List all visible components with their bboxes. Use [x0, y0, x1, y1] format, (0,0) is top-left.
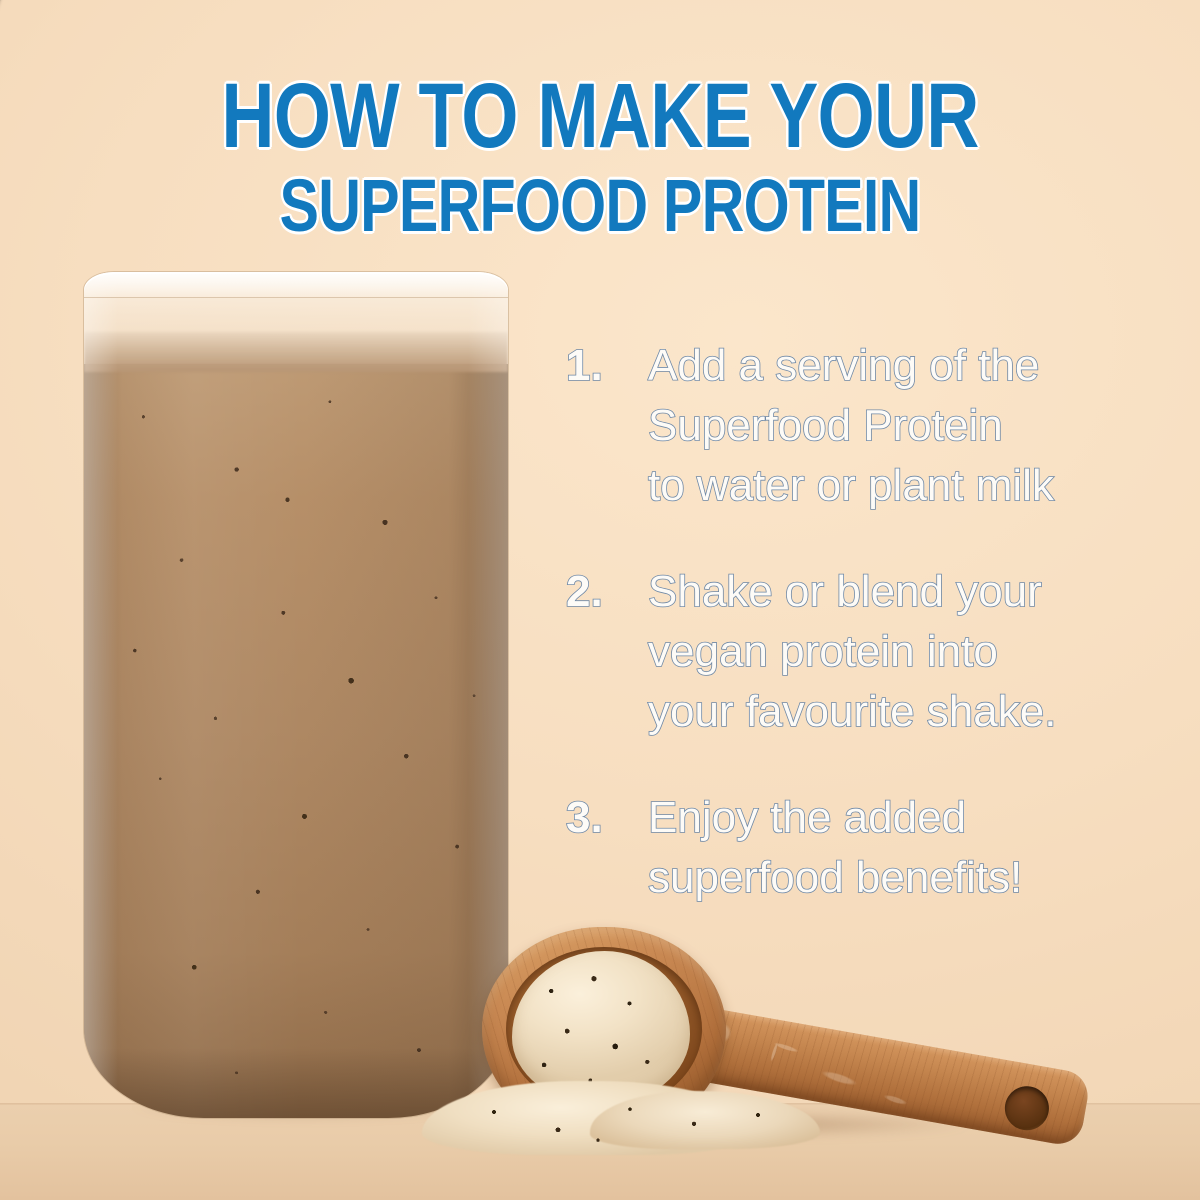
list-item: 3. Enjoy the added superfood benefits! — [566, 788, 1146, 908]
glass-highlight-left — [84, 272, 118, 1118]
step-number: 2. — [566, 562, 648, 742]
list-item: 1. Add a serving of the Superfood Protei… — [566, 336, 1146, 516]
step-text: Enjoy the added superfood benefits! — [648, 788, 1022, 908]
headline-line-2: SUPERFOOD PROTEIN — [120, 170, 1080, 241]
list-item: 2. Shake or blend your vegan protein int… — [566, 562, 1146, 742]
smoothie-foam-line — [84, 332, 508, 372]
poster: HOW TO MAKE YOUR SUPERFOOD PROTEIN 1. Ad… — [0, 0, 1200, 1200]
wooden-scoop — [470, 905, 1130, 1145]
smoothie-glass — [84, 272, 508, 1118]
smoothie-flecks — [84, 364, 508, 1118]
glass-rim — [84, 272, 508, 298]
instruction-steps-list: 1. Add a serving of the Superfood Protei… — [566, 336, 1146, 908]
spilled-powder-flecks — [422, 1081, 822, 1155]
step-text: Add a serving of the Superfood Protein t… — [648, 336, 1054, 516]
step-text: Shake or blend your vegan protein into y… — [648, 562, 1056, 742]
step-number: 3. — [566, 788, 648, 908]
headline-line-1: HOW TO MAKE YOUR — [120, 72, 1080, 160]
page-title: HOW TO MAKE YOUR SUPERFOOD PROTEIN — [0, 72, 1200, 241]
step-number: 1. — [566, 336, 648, 516]
